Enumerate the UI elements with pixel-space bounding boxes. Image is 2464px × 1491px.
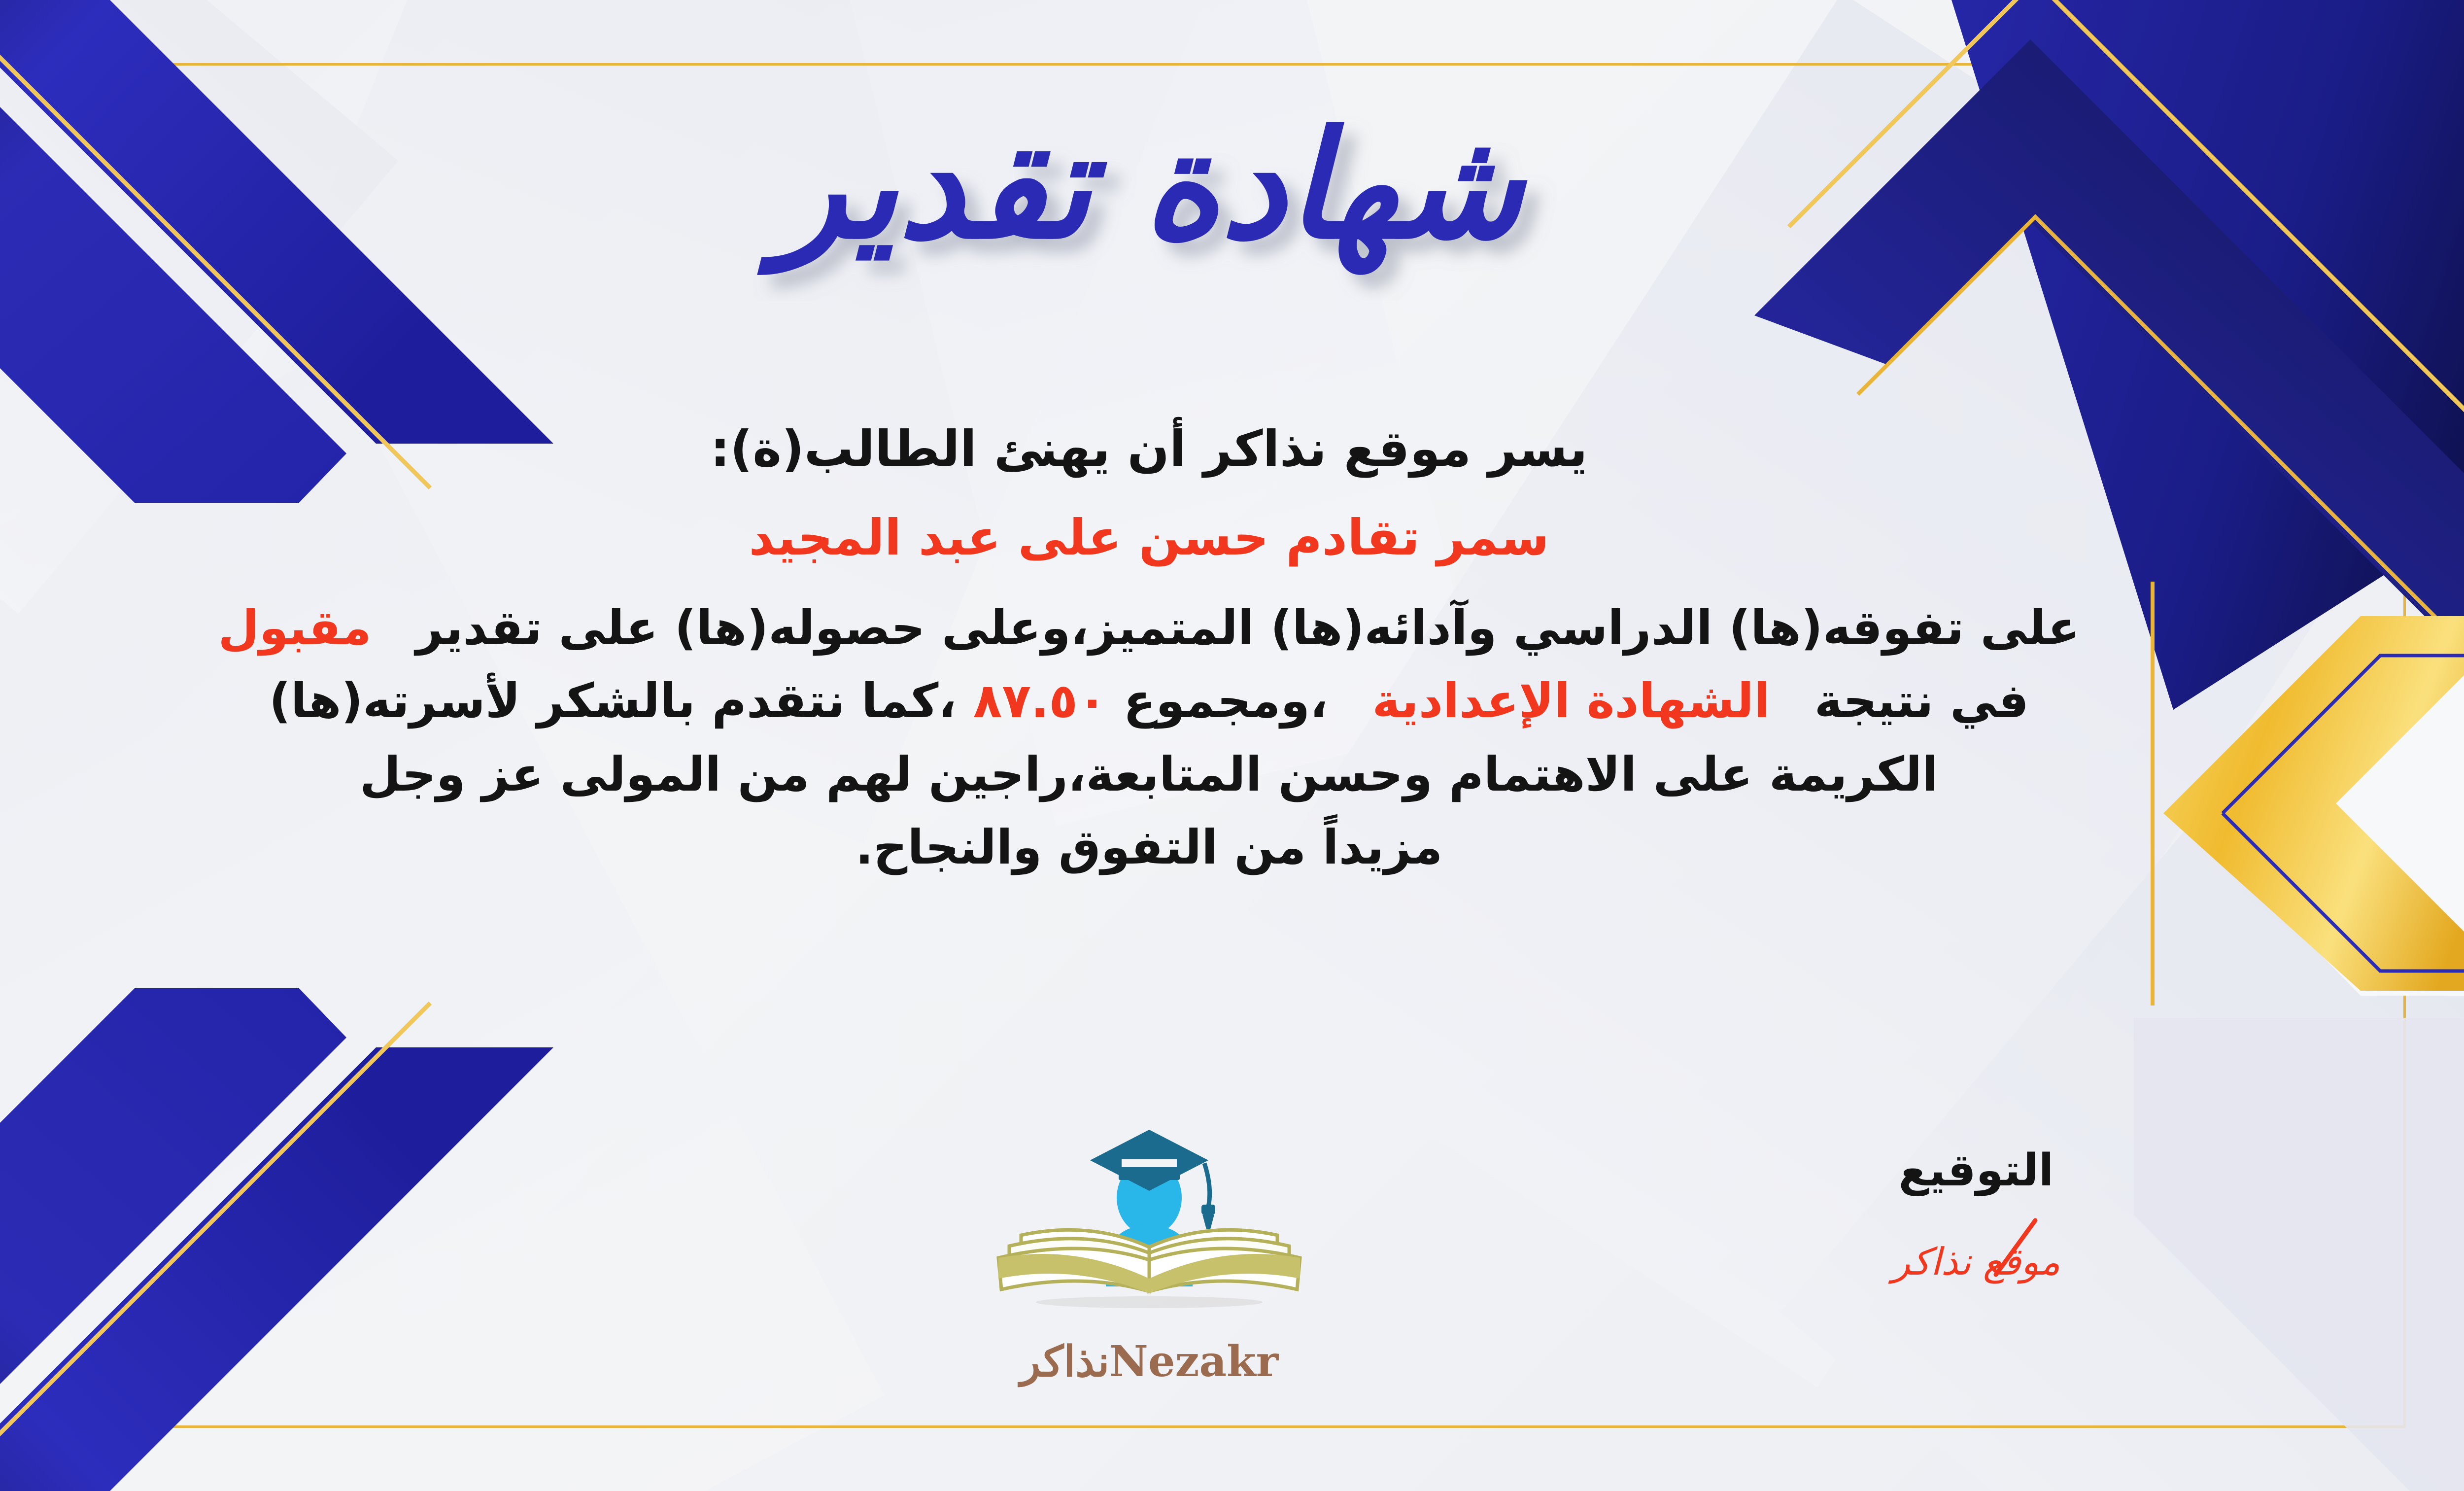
body-line-family: الكريمة على الاهتمام وحسن المتابعة،راجين… bbox=[0, 741, 2301, 808]
certificate-page: شهادة تقدير يسر موقع نذاكر أن يهنئ الطال… bbox=[0, 0, 2464, 1491]
signature-label: التوقيع bbox=[1873, 1148, 2080, 1193]
grade-value: مقبول bbox=[218, 600, 372, 656]
exam-prefix: في نتيجة bbox=[1814, 673, 2029, 728]
thanks-text: ،كما نتقدم بالشكر لأسرته(ها) bbox=[269, 673, 957, 728]
logo-wordmark: Nezakrنذاكر bbox=[1017, 1337, 1279, 1387]
total-score: ٨٧.٥٠ bbox=[973, 673, 1107, 728]
body-line-exam: في نتيجةالشهادة الإعدادية،ومجموع٨٧.٥٠،كم… bbox=[0, 667, 2301, 734]
certificate-body: يسر موقع نذاكر أن يهنئ الطالب(ة): سمر تق… bbox=[0, 414, 2301, 881]
site-logo: Nezakrنذاكر bbox=[962, 1124, 1336, 1390]
merit-text: على تفوقه(ها) الدراسي وآدائه(ها) المتميز… bbox=[416, 600, 2080, 656]
graduate-open-book-icon bbox=[977, 1124, 1322, 1331]
body-line-merit: على تفوقه(ها) الدراسي وآدائه(ها) المتميز… bbox=[0, 594, 2301, 661]
signature-block: التوقيع موقع نذاكر bbox=[1873, 1148, 2080, 1309]
logo-latin-name: Nezakr bbox=[1109, 1337, 1279, 1387]
signature-mark: موقع نذاكر bbox=[1873, 1211, 2080, 1309]
logo-arabic-name: نذاكر bbox=[1017, 1337, 1109, 1387]
body-line-closing: مزيداً من التفوق والنجاح. bbox=[0, 814, 2301, 881]
body-line-greeting: يسر موقع نذاكر أن يهنئ الطالب(ة): bbox=[0, 414, 2301, 484]
exam-name: الشهادة الإعدادية bbox=[1372, 673, 1770, 728]
signature-script-text: موقع نذاكر bbox=[1888, 1240, 2060, 1284]
total-prefix: ،ومجموع bbox=[1124, 673, 1328, 728]
student-name: سمر تقادم حسن على عبد المجيد bbox=[0, 503, 2301, 573]
